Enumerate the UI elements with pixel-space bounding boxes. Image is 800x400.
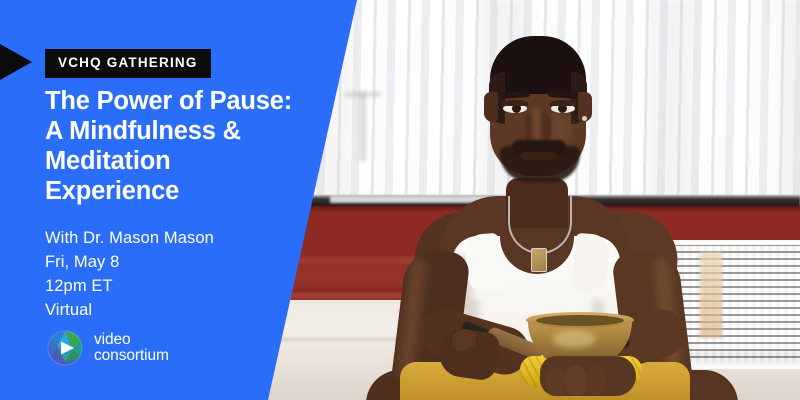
right-eyelid — [550, 100, 576, 106]
singing-bowl-interior — [536, 315, 624, 326]
event-title-line-2: A Mindfulness & — [45, 116, 345, 146]
video-consortium-globe-play-icon — [45, 328, 85, 368]
logo-text-line-2: consortium — [94, 348, 169, 364]
event-date: Fri, May 8 — [45, 250, 325, 274]
event-title: The Power of Pause: A Mindfulness & Medi… — [45, 86, 345, 206]
lips — [521, 152, 557, 160]
nose-highlight — [532, 108, 541, 142]
event-title-line-4: Experience — [45, 176, 345, 206]
event-details: With Dr. Mason Mason Fri, May 8 12pm ET … — [45, 226, 325, 322]
right-hand-finger-2 — [566, 366, 586, 396]
event-promo-poster: VCHQ GATHERING The Power of Pause: A Min… — [0, 0, 800, 400]
event-title-line-3: Meditation — [45, 146, 345, 176]
right-hand-finger-3 — [586, 366, 606, 396]
video-consortium-logo-text: video consortium — [94, 332, 169, 364]
event-time: 12pm ET — [45, 274, 325, 298]
right-hand-finger-1 — [546, 368, 566, 396]
right-hand-finger-4 — [606, 368, 626, 396]
event-title-line-1: The Power of Pause: — [45, 86, 345, 116]
earring — [582, 116, 587, 121]
event-location: Virtual — [45, 298, 325, 322]
video-consortium-logo: video consortium — [45, 328, 169, 368]
tank-top-left-strap — [464, 233, 502, 293]
event-speaker: With Dr. Mason Mason — [45, 226, 325, 250]
left-ear — [484, 92, 498, 122]
left-eyelid — [502, 100, 528, 106]
logo-text-line-1: video — [94, 332, 169, 348]
event-category-badge: VCHQ GATHERING — [45, 49, 211, 78]
necklace-pendant — [531, 248, 547, 272]
singing-bowl-highlight — [552, 330, 596, 348]
